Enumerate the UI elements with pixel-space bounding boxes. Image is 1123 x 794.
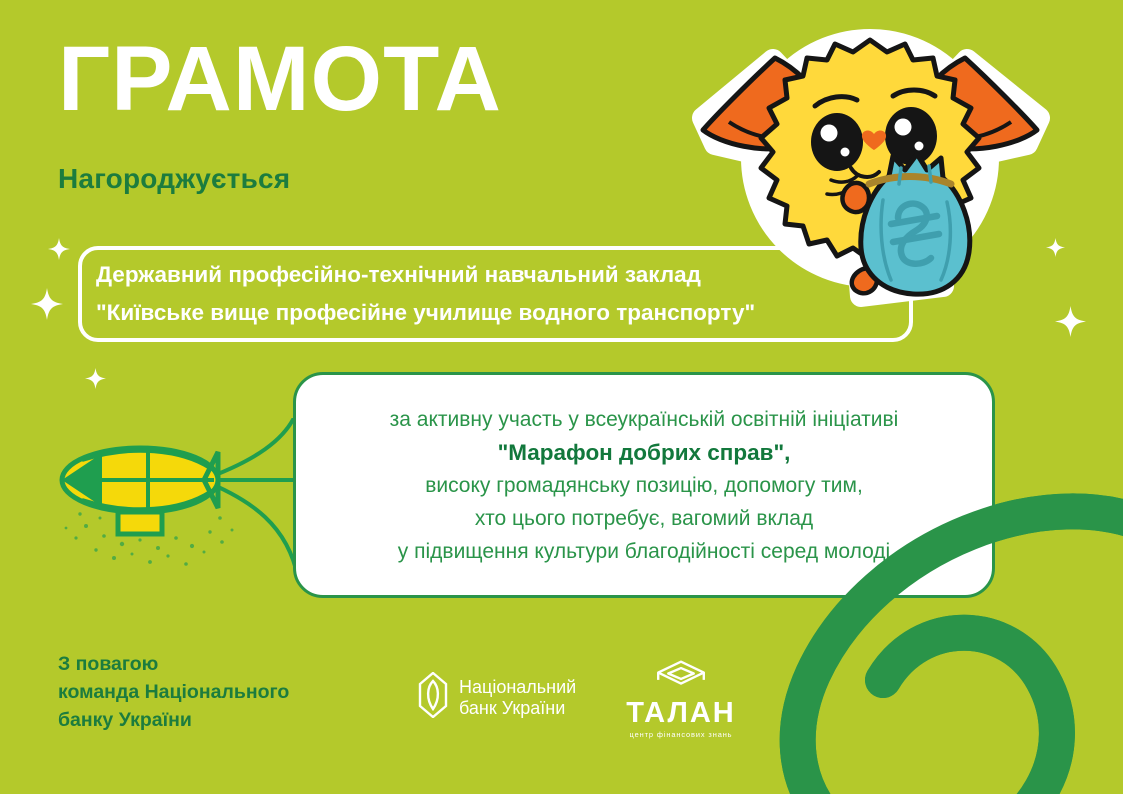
- certificate-subtitle: Нагороджується: [58, 163, 290, 195]
- award-line-4: хто цього потребує, вагомий вклад: [475, 502, 813, 535]
- award-text: за активну участь у всеукраїнській освіт…: [293, 372, 995, 598]
- signature-block: З повагою команда Національного банку Ук…: [58, 650, 289, 734]
- talan-logo-name: ТАЛАН: [622, 697, 740, 729]
- sparkle-icon: [1055, 306, 1086, 337]
- award-program-name: "Марафон добрих справ",: [498, 436, 791, 469]
- award-line-1: за активну участь у всеукраїнській освіт…: [390, 403, 899, 436]
- award-line-5: у підвищення культури благодійності сере…: [398, 535, 890, 568]
- certificate-title: ГРАМОТА: [58, 33, 502, 125]
- nbu-logo-line-1: Національний: [459, 677, 576, 698]
- sparkle-icon: [1046, 238, 1065, 257]
- sparkle-icon: [85, 368, 106, 389]
- award-line-3: високу громадянську позицію, допомогу ти…: [425, 469, 863, 502]
- sparkle-icon: [48, 238, 70, 260]
- talan-logo: ТАЛАН центр фінансових знань: [622, 658, 740, 740]
- talan-logo-tagline: центр фінансових знань: [622, 729, 740, 740]
- nbu-logo: Національний банк України: [418, 672, 576, 723]
- talan-emblem-icon: [649, 676, 713, 693]
- recipient-line-1: Державний професійно-технічний навчальни…: [96, 256, 906, 294]
- recipient-name: Державний професійно-технічний навчальни…: [96, 256, 906, 332]
- nbu-logo-text: Національний банк України: [459, 677, 576, 719]
- certificate-page: ГРАМОТА Нагороджується Державний професі…: [0, 0, 1123, 794]
- sparkle-icon: [31, 288, 63, 320]
- nbu-logo-line-2: банк України: [459, 698, 576, 719]
- signature-line-1: З повагою: [58, 650, 289, 678]
- recipient-line-2: "Київське вище професійне училище водног…: [96, 294, 906, 332]
- signature-line-3: банку України: [58, 706, 289, 734]
- signature-line-2: команда Національного: [58, 678, 289, 706]
- nbu-emblem-icon: [418, 672, 448, 723]
